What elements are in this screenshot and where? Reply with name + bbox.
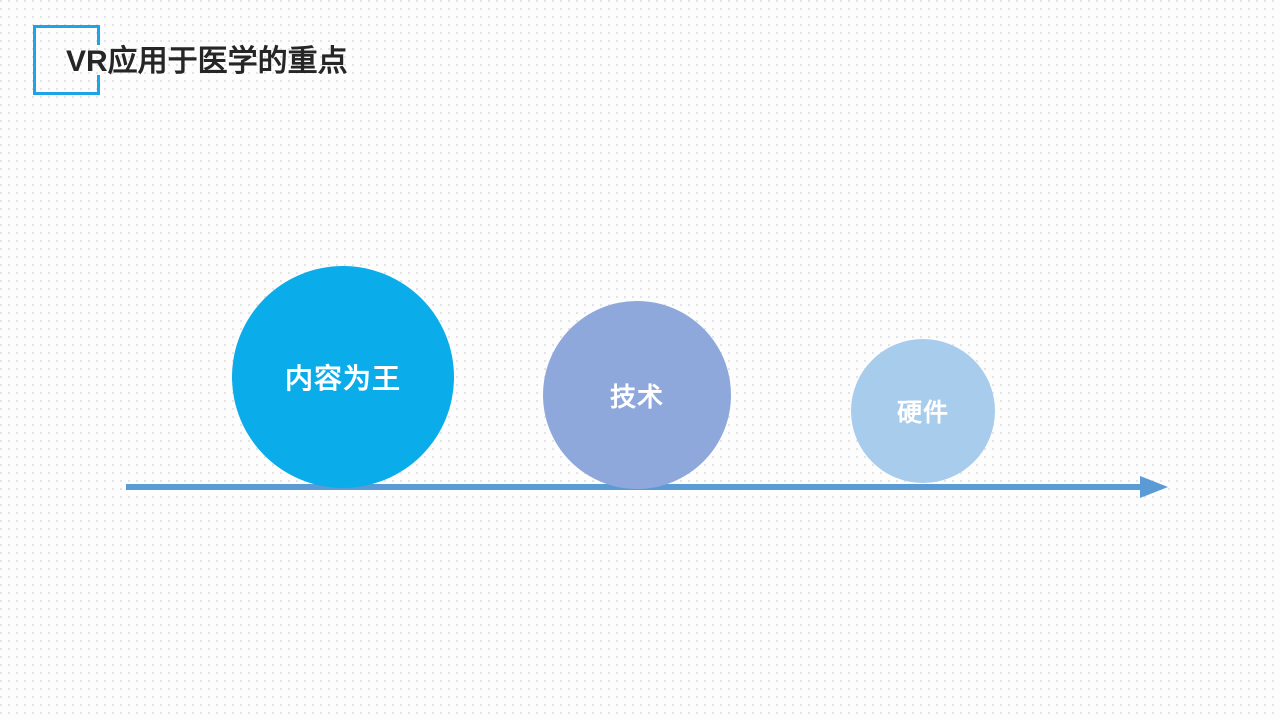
bubble-label: 内容为王 — [285, 357, 401, 397]
bubble-hardware[interactable]: 硬件 — [851, 339, 995, 483]
slide-canvas: VR应用于医学的重点 内容为王 技术 硬件 — [0, 0, 1280, 720]
bubble-label: 技术 — [610, 377, 664, 414]
priority-bubble-group: 内容为王 技术 硬件 — [0, 0, 1280, 720]
bubble-label: 硬件 — [897, 393, 949, 429]
bubble-technology[interactable]: 技术 — [543, 301, 731, 489]
bubble-content-is-king[interactable]: 内容为王 — [232, 266, 454, 488]
